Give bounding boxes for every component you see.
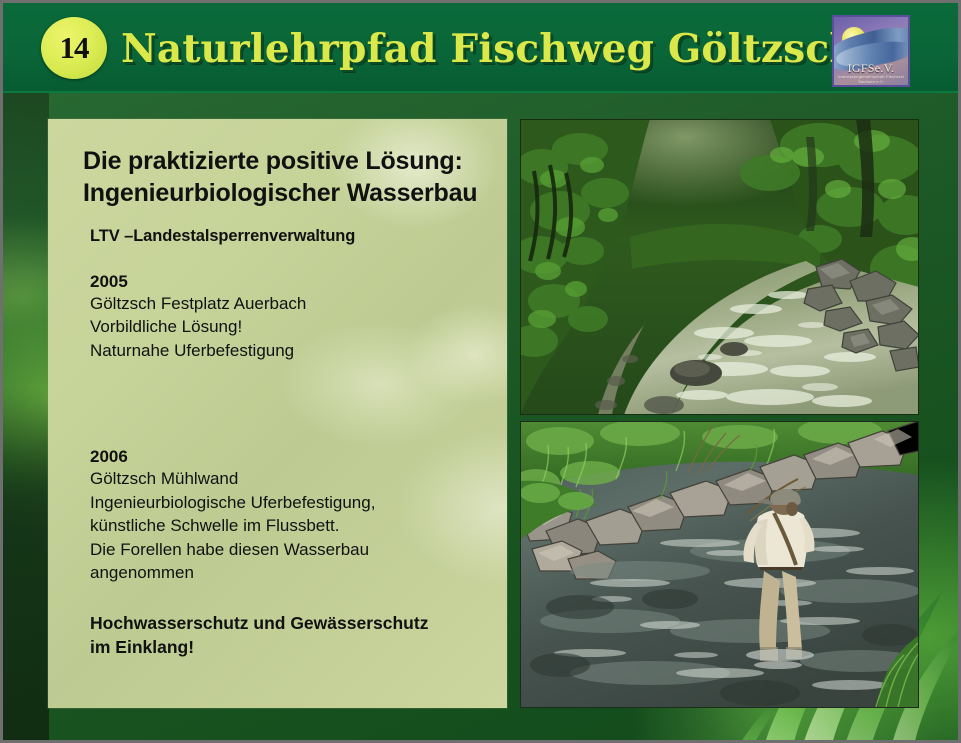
photo-angler-in-stream bbox=[520, 421, 919, 708]
photo-stream-natural-bank bbox=[520, 119, 919, 415]
entry-2005-year: 2005 bbox=[90, 272, 483, 292]
background-left-shade bbox=[3, 89, 49, 743]
entry-2006-line-5: angenommen bbox=[90, 562, 483, 584]
igfs-ev-logo: IGFSe.V. Interessengemeinschaft Fischere… bbox=[832, 15, 910, 87]
entry-2006: 2006 Göltzsch Mühlwand Ingenieurbiologis… bbox=[70, 447, 483, 584]
presentation-slide: 14 Naturlehrpfad Fischweg Göltzsch IGFSe… bbox=[0, 0, 961, 743]
panel-subheading: LTV –Landestalsperrenverwaltung bbox=[90, 227, 483, 246]
entry-2005-line-2: Vorbildliche Lösung! bbox=[90, 316, 483, 338]
slide-number-text: 14 bbox=[60, 30, 89, 66]
entry-spacer bbox=[70, 363, 483, 447]
entry-2005-line-1: Göltzsch Festplatz Auerbach bbox=[90, 293, 483, 315]
page-title: Naturlehrpfad Fischweg Göltzsch bbox=[121, 21, 858, 77]
closing-line2: im Einklang! bbox=[90, 636, 483, 659]
entry-2006-line-1: Göltzsch Mühlwand bbox=[90, 468, 483, 490]
content-panel: Die praktizierte positive Lösung: Ingeni… bbox=[48, 119, 507, 708]
entry-2006-year: 2006 bbox=[90, 447, 483, 467]
closing-spacer bbox=[70, 586, 483, 612]
entry-2005-line-3: Naturnahe Uferbefestigung bbox=[90, 340, 483, 362]
entry-2005: 2005 Göltzsch Festplatz Auerbach Vorbild… bbox=[70, 272, 483, 362]
panel-heading-line1: Die praktizierte positive Lösung: bbox=[83, 145, 483, 177]
closing-line1: Hochwasserschutz und Gewässerschutz bbox=[90, 612, 483, 635]
entry-2006-line-3: künstliche Schwelle im Flussbett. bbox=[90, 515, 483, 537]
entry-2006-line-4: Die Forellen habe diesen Wasserbau bbox=[90, 539, 483, 561]
entry-2006-line-2: Ingenieurbiologische Uferbefestigung, bbox=[90, 492, 483, 514]
slide-number-badge: 14 bbox=[41, 17, 107, 79]
panel-heading-line2: Ingenieurbiologischer Wasserbau bbox=[83, 177, 483, 209]
logo-subtext: Interessengemeinschaft Fischerei Sachsen… bbox=[834, 74, 908, 84]
slide-header: 14 Naturlehrpfad Fischweg Göltzsch IGFSe… bbox=[3, 3, 958, 93]
